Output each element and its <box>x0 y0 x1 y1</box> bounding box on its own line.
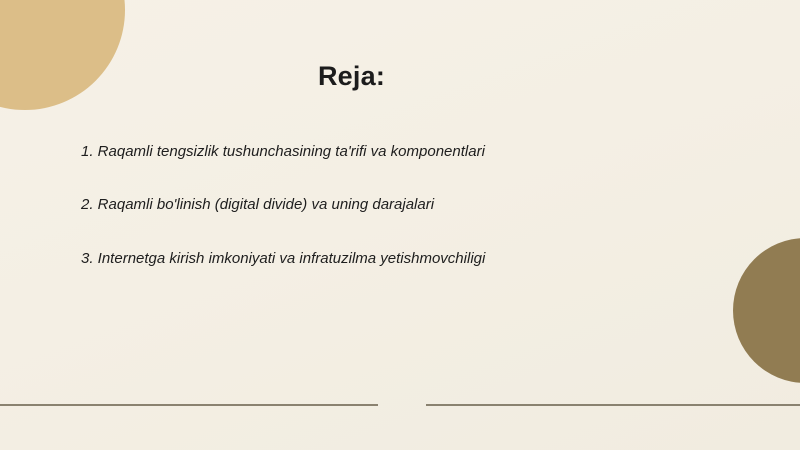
decorative-circle-top-left <box>0 0 125 110</box>
decorative-circle-bottom-right <box>733 238 800 383</box>
footer-rule-left <box>0 404 378 406</box>
footer-rule-right <box>426 404 800 406</box>
agenda-item: 3. Internetga kirish imkoniyati va infra… <box>81 249 721 269</box>
agenda-item: 1. Raqamli tengsizlik tushunchasining ta… <box>81 142 721 162</box>
slide-canvas: Reja: 1. Raqamli tengsizlik tushunchasin… <box>0 0 800 450</box>
agenda-item: 2. Raqamli bo'linish (digital divide) va… <box>81 195 721 215</box>
slide-title: Reja: <box>0 62 703 92</box>
agenda-list: 1. Raqamli tengsizlik tushunchasining ta… <box>81 142 721 269</box>
